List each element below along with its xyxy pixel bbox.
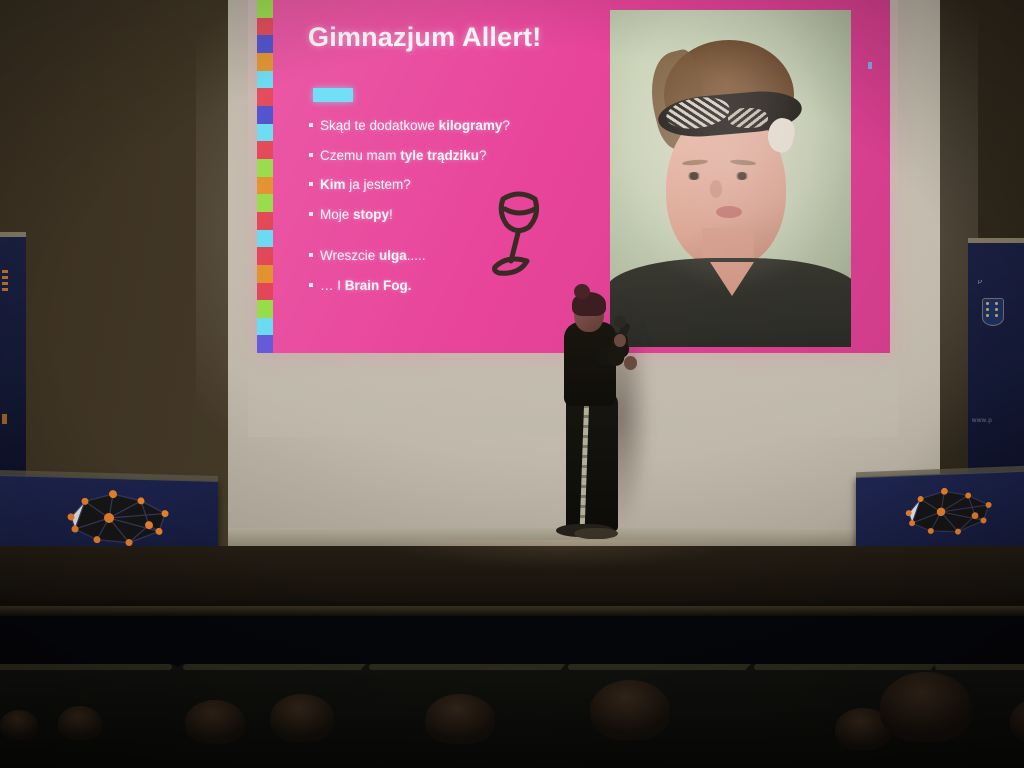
audience-head <box>185 700 245 744</box>
audience-head <box>880 672 972 742</box>
poland-network-map-logo <box>856 477 1024 550</box>
stage-light-pool <box>300 540 820 610</box>
bullet-square-icon <box>309 182 313 186</box>
bullet-text: Wreszcie ulga..... <box>320 248 426 264</box>
strip-swatch <box>257 18 273 36</box>
slide-bullet: Kim ja jestem? <box>309 177 609 193</box>
speaker-on-stage <box>552 288 644 550</box>
strip-swatch <box>257 124 273 142</box>
audience-head <box>425 694 495 744</box>
bullet-text: Skąd te dodatkowe kilogramy? <box>320 118 510 134</box>
strip-swatch <box>257 230 273 248</box>
bullet-square-icon <box>309 123 313 127</box>
bullet-square-icon <box>309 253 313 257</box>
stage-front-edge <box>0 606 1024 616</box>
slide-bullet: Czemu mam tyle trądziku? <box>309 148 609 164</box>
slide-title: Gimnazjum Allert! <box>308 22 541 53</box>
strip-swatch <box>257 71 273 89</box>
hair-bun <box>574 284 590 299</box>
strip-swatch <box>257 265 273 283</box>
bullet-square-icon <box>309 212 313 216</box>
strip-swatch <box>257 159 273 177</box>
crest-icon <box>982 298 1004 326</box>
slide-bullet: Moje stopy! <box>309 207 609 223</box>
rollup-url: www.p <box>972 418 992 424</box>
strip-swatch <box>257 212 273 230</box>
audience-head <box>58 706 102 740</box>
strip-swatch <box>257 106 273 124</box>
slide-bullet-list: Skąd te dodatkowe kilogramy?Czemu mam ty… <box>309 118 609 307</box>
strip-swatch <box>257 318 273 336</box>
bullet-text: Moje stopy! <box>320 207 393 223</box>
slide-portrait-photo <box>610 10 851 347</box>
strip-swatch <box>257 35 273 53</box>
strip-swatch <box>257 141 273 159</box>
rollup-text-line1: P <box>978 280 983 286</box>
strip-swatch <box>257 335 273 353</box>
slide-bullet: Skąd te dodatkowe kilogramy? <box>309 118 609 134</box>
strip-swatch <box>257 247 273 265</box>
slide-color-strip <box>257 0 273 353</box>
strip-swatch <box>257 177 273 195</box>
strip-swatch <box>257 283 273 301</box>
bullet-square-icon <box>309 283 313 287</box>
strip-swatch <box>257 88 273 106</box>
bullet-square-icon <box>309 153 313 157</box>
strip-swatch <box>257 194 273 212</box>
rollup-banner-right: P www.p <box>968 238 1024 490</box>
strip-swatch <box>257 0 273 18</box>
strip-swatch <box>257 53 273 71</box>
audience-head <box>590 680 670 740</box>
bullet-text: Czemu mam tyle trądziku? <box>320 148 487 164</box>
wine-glass-doodle <box>485 185 555 290</box>
projector-artifact-speck <box>868 62 872 69</box>
conference-photo-scene: Gimnazjum Allert! Skąd te dodatkowe kilo… <box>0 0 1024 768</box>
bullet-text: Kim ja jestem? <box>320 177 411 193</box>
audience-head <box>0 710 38 740</box>
audience-head <box>270 694 334 742</box>
slide-bullet: Wreszcie ulga..... <box>309 248 609 264</box>
strip-swatch <box>257 300 273 318</box>
slide-accent-bar <box>313 88 353 102</box>
poland-network-map-logo <box>0 481 218 553</box>
audience-seat-row <box>0 664 1024 768</box>
bullet-text: … I Brain Fog. <box>320 278 412 294</box>
rollup-banner-left <box>0 232 26 484</box>
